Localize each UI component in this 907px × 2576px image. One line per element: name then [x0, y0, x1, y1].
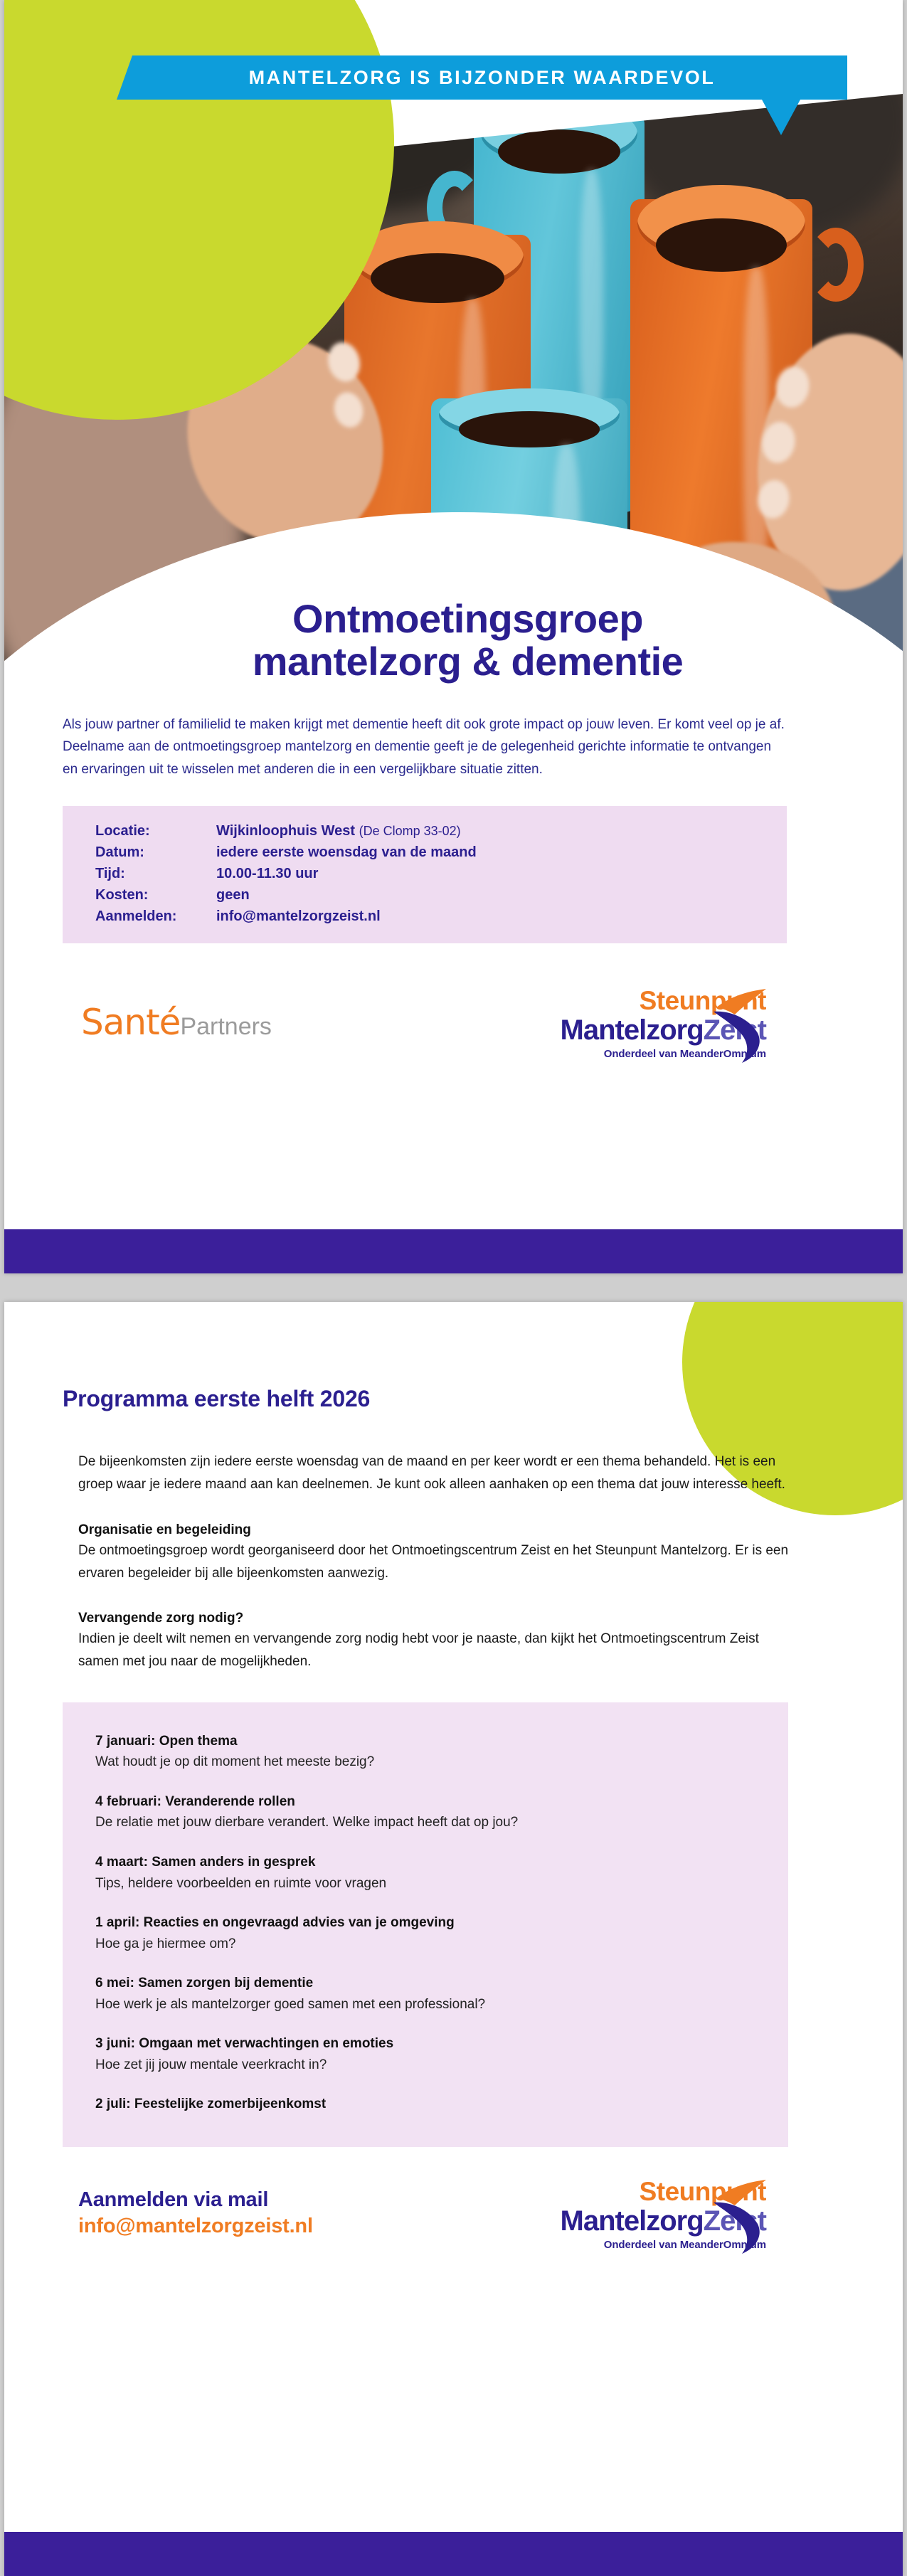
info-row-locatie: Locatie: Wijkinloophuis West (De Clomp 3…	[95, 823, 787, 839]
header-banner: MANTELZORG IS BIJZONDER WAARDEVOL	[117, 55, 847, 100]
page-title: Ontmoetingsgroep mantelzorg & dementie	[63, 598, 844, 684]
schedule-item-desc: Wat houdt je op dit moment het meeste be…	[95, 1752, 788, 1773]
section-heading-organisatie: Organisatie en begeleiding	[78, 1522, 844, 1538]
schedule-item-title: 6 mei: Samen zorgen bij dementie	[95, 1974, 788, 1993]
banner-wrap: MANTELZORG IS BIJZONDER WAARDEVOL	[4, 55, 903, 148]
info-row-kosten: Kosten: geen	[95, 887, 787, 903]
info-value: Wijkinloophuis West (De Clomp 33-02)	[216, 823, 461, 839]
steunpunt-swoosh-icon	[706, 2180, 768, 2255]
logo-row: SantéPartners Steunpunt MantelzorgZeist …	[63, 982, 844, 1088]
logo-sante-partners: SantéPartners	[81, 1002, 272, 1043]
schedule-item-desc: Hoe zet jij jouw mentale veerkracht in?	[95, 2055, 788, 2076]
schedule-item: 6 mei: Samen zorgen bij dementie Hoe wer…	[95, 1974, 788, 2015]
schedule-item: 7 januari: Open thema Wat houdt je op di…	[95, 1732, 788, 1773]
info-row-aanmelden: Aanmelden: info@mantelzorgzeist.nl	[95, 908, 787, 925]
page-title-line2: mantelzorg & dementie	[91, 640, 844, 683]
section-body-vervangende-zorg: Indien je deelt wilt nemen en vervangend…	[78, 1628, 797, 1674]
info-label: Datum:	[95, 844, 216, 861]
schedule-item-title: 4 maart: Samen anders in gesprek	[95, 1853, 788, 1872]
sante-wordmark: Santé	[81, 1002, 180, 1043]
section-heading-vervangende-zorg: Vervangende zorg nodig?	[78, 1611, 844, 1626]
schedule-item-title: 7 januari: Open thema	[95, 1732, 788, 1751]
schedule-item-desc: Hoe ga je hiermee om?	[95, 1934, 788, 1955]
schedule-item: 4 februari: Veranderende rollen De relat…	[95, 1793, 788, 1833]
info-row-tijd: Tijd: 10.00-11.30 uur	[95, 866, 787, 882]
logo-steunpunt-mantelzorg-zeist: Steunpunt MantelzorgZeist Onderdeel van …	[561, 2178, 766, 2251]
page-gap	[0, 1273, 907, 1302]
schedule-item: 3 juni: Omgaan met verwachtingen en emot…	[95, 2035, 788, 2075]
flyer-page-1: MANTELZORG IS BIJZONDER WAARDEVOL Ontmoe…	[4, 0, 903, 1273]
intro-paragraph: Als jouw partner of familielid te maken …	[63, 714, 788, 780]
programma-heading: Programma eerste helft 2026	[63, 1302, 844, 1412]
section-body-organisatie: De ontmoetingsgroep wordt georganiseerd …	[78, 1539, 797, 1586]
signup-block: Aanmelden via mail info@mantelzorgzeist.…	[78, 2188, 313, 2238]
schedule-item-desc: Tips, heldere voorbeelden en ruimte voor…	[95, 1874, 788, 1894]
schedule-item: 4 maart: Samen anders in gesprek Tips, h…	[95, 1853, 788, 1894]
schedule-item-title: 1 april: Reacties en ongevraagd advies v…	[95, 1914, 788, 1933]
event-info-box: Locatie: Wijkinloophuis West (De Clomp 3…	[63, 806, 787, 943]
info-value: geen	[216, 887, 250, 903]
info-label: Locatie:	[95, 823, 216, 839]
banner-pointer-icon	[762, 100, 800, 135]
steunpunt-swoosh-icon	[706, 989, 768, 1064]
info-value: 10.00-11.30 uur	[216, 866, 318, 882]
schedule-item-title: 2 juli: Feestelijke zomerbijeenkomst	[95, 2095, 788, 2114]
schedule-item-desc: De relatie met jouw dierbare verandert. …	[95, 1813, 788, 1833]
flyer-page-2: Programma eerste helft 2026 De bijeenkom…	[4, 1302, 903, 2576]
sante-partners-label: Partners	[180, 1013, 272, 1040]
info-label: Aanmelden:	[95, 908, 216, 925]
info-label: Tijd:	[95, 866, 216, 882]
schedule-box: 7 januari: Open thema Wat houdt je op di…	[63, 1702, 788, 2147]
info-label: Kosten:	[95, 887, 216, 903]
signup-email[interactable]: info@mantelzorgzeist.nl	[78, 2215, 313, 2238]
info-row-datum: Datum: iedere eerste woensdag van de maa…	[95, 844, 787, 861]
bottom-purple-bar	[4, 1229, 903, 1273]
bottom-purple-bar	[4, 2532, 903, 2576]
info-email-value[interactable]: info@mantelzorgzeist.nl	[216, 908, 381, 925]
signup-label: Aanmelden via mail	[78, 2188, 313, 2212]
footer-row: Aanmelden via mail info@mantelzorgzeist.…	[63, 2178, 844, 2285]
schedule-item-desc: Hoe werk je als mantelzorger goed samen …	[95, 1995, 788, 2015]
schedule-item: 1 april: Reacties en ongevraagd advies v…	[95, 1914, 788, 1954]
schedule-item-title: 3 juni: Omgaan met verwachtingen en emot…	[95, 2035, 788, 2054]
schedule-item: 2 juli: Feestelijke zomerbijeenkomst	[95, 2095, 788, 2114]
schedule-item-title: 4 februari: Veranderende rollen	[95, 1793, 788, 1812]
info-value: iedere eerste woensdag van de maand	[216, 844, 477, 861]
logo-steunpunt-mantelzorg-zeist: Steunpunt MantelzorgZeist Onderdeel van …	[561, 987, 766, 1060]
info-value-sub: (De Clomp 33-02)	[359, 824, 461, 838]
page-title-line1: Ontmoetingsgroep	[91, 598, 844, 640]
banner-title: MANTELZORG IS BIJZONDER WAARDEVOL	[249, 67, 716, 89]
programma-intro: De bijeenkomsten zijn iedere eerste woen…	[78, 1451, 797, 1497]
